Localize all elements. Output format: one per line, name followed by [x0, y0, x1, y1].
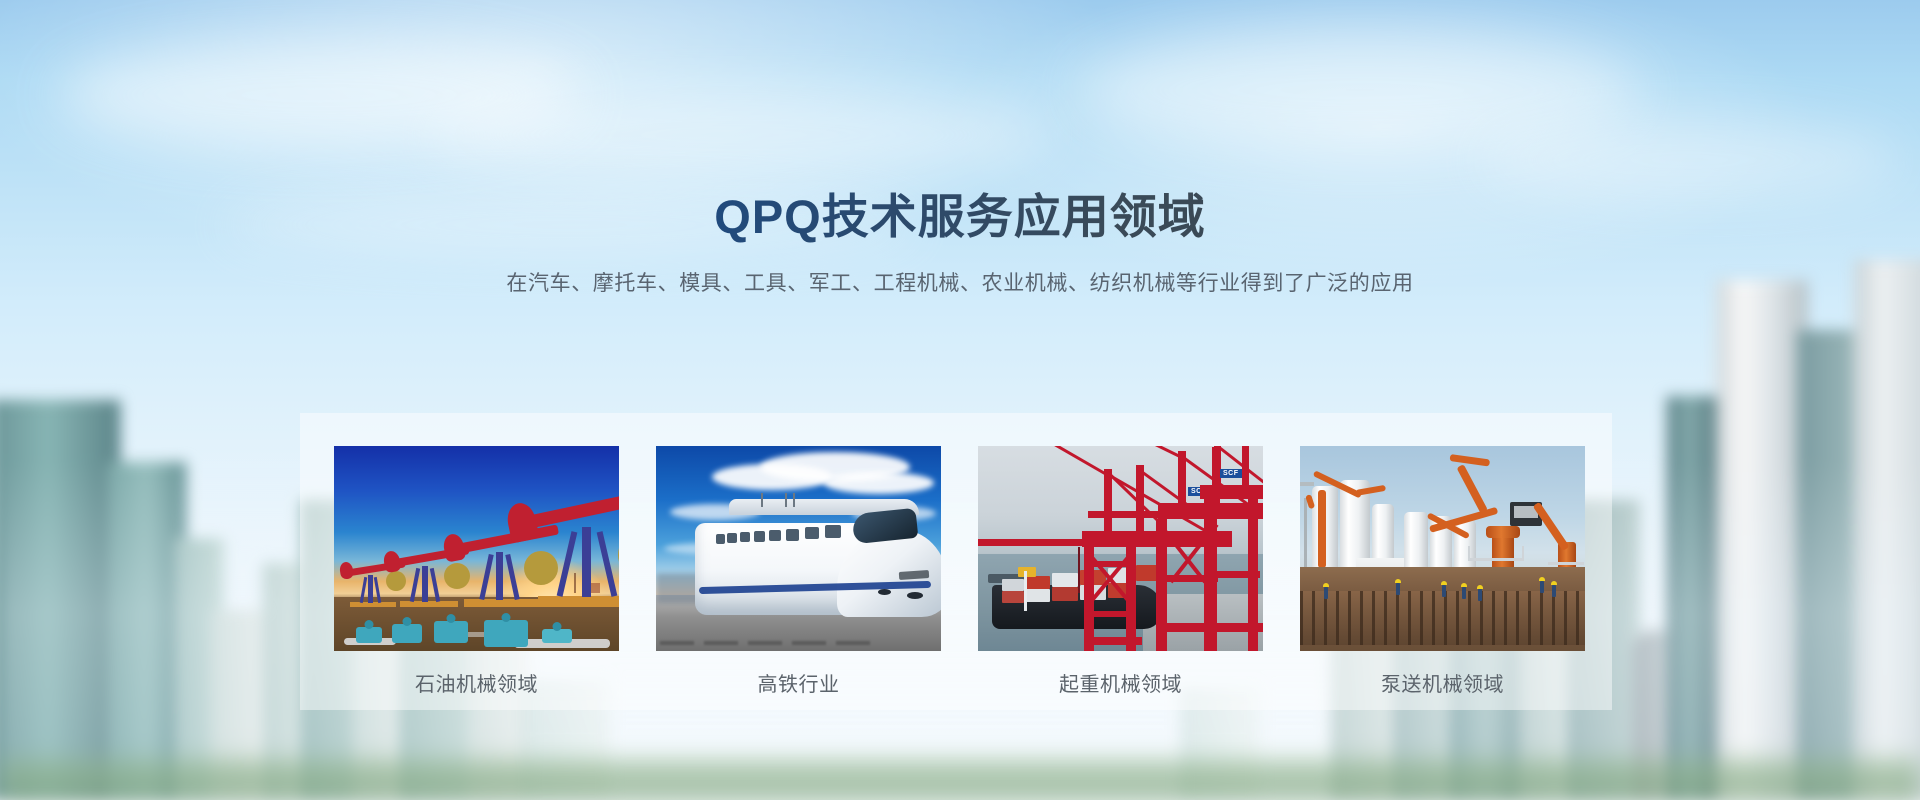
- list-item[interactable]: 泵送机械领域: [1300, 446, 1585, 686]
- card-label: 高铁行业: [656, 668, 941, 697]
- wellhead: [392, 624, 422, 643]
- wellhead: [484, 620, 528, 647]
- gantry-crane: SCF: [1192, 451, 1263, 651]
- pump-boom: [1456, 464, 1487, 514]
- wellhead: [542, 629, 572, 643]
- card-label: 泵送机械领域: [1300, 668, 1585, 697]
- platform: [1468, 558, 1524, 561]
- card-thumbnail-lifting-machinery[interactable]: SCF SCF: [978, 446, 1263, 651]
- application-cards-list: 石油机械领域: [334, 446, 1585, 686]
- oil-pumpjack-scene: [334, 446, 619, 651]
- pumpjack: [510, 483, 619, 607]
- port-gantry-crane-scene: SCF SCF: [978, 446, 1263, 651]
- pump-riser: [1318, 490, 1326, 568]
- cloud-shape: [430, 90, 1050, 180]
- card-thumbnail-pumping-machinery[interactable]: [1300, 446, 1585, 651]
- page-title: QPQ技术服务应用领域: [0, 188, 1920, 247]
- concrete-pump-scene: [1300, 446, 1585, 651]
- crh-train: [675, 491, 941, 615]
- card-thumbnail-oil-machinery[interactable]: [334, 446, 619, 651]
- wellhead: [434, 621, 468, 643]
- rebar-grid: [1300, 591, 1585, 645]
- list-item[interactable]: SCF SCF 起重机械领域: [978, 446, 1263, 686]
- wellhead: [356, 627, 382, 643]
- list-item[interactable]: 石油机械领域: [334, 446, 619, 686]
- pump-collar: [1486, 526, 1520, 538]
- card-thumbnail-high-speed-rail[interactable]: [656, 446, 941, 651]
- card-label: 起重机械领域: [978, 668, 1263, 697]
- page-subtitle: 在汽车、摩托车、模具、工具、军工、工程机械、农业机械、纺织机械等行业得到了广泛的…: [0, 267, 1920, 297]
- card-label: 石油机械领域: [334, 668, 619, 697]
- high-speed-train-scene: [656, 446, 941, 651]
- platform: [1548, 562, 1584, 565]
- hero-heading-block: QPQ技术服务应用领域 在汽车、摩托车、模具、工具、军工、工程机械、农业机械、纺…: [0, 188, 1920, 297]
- pump-boom: [1533, 502, 1570, 551]
- pump-boom: [1450, 454, 1491, 466]
- list-item[interactable]: 高铁行业: [656, 446, 941, 686]
- scf-logo: SCF: [1220, 469, 1242, 478]
